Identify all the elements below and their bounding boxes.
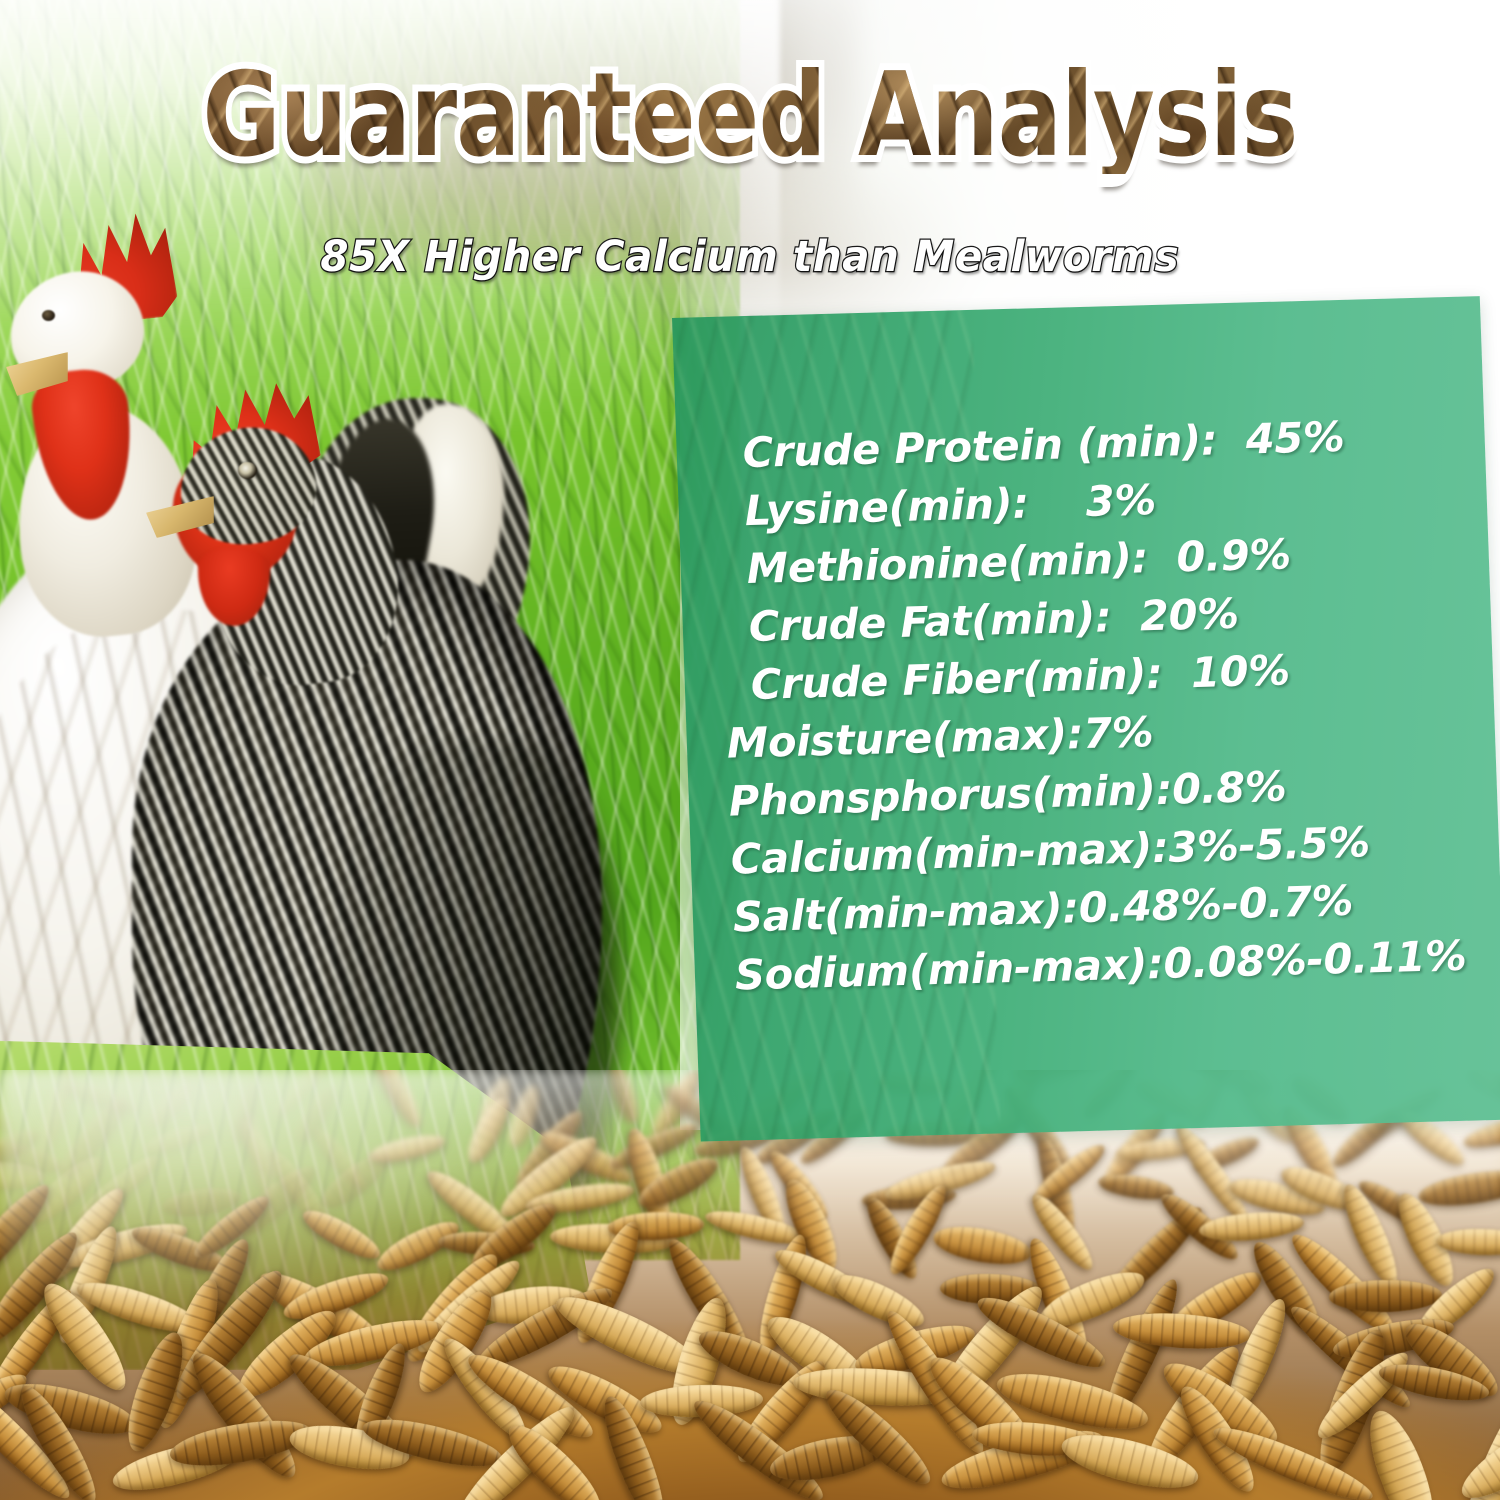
guaranteed-analysis-panel: Crude Protein (min): 45%Lysine(min): 3%M…: [672, 296, 1500, 1141]
subheadline: 85X Higher Calcium than Mealworms: [0, 232, 1500, 282]
headline: Guaranteed Analysis Guaranteed Analysis …: [0, 58, 1500, 178]
white-hen-eye: [42, 310, 55, 321]
nutrient-list: Crude Protein (min): 45%Lysine(min): 3%M…: [716, 405, 1476, 1005]
headline-layers: Guaranteed Analysis Guaranteed Analysis …: [0, 58, 1500, 178]
barred-hen-eye: [238, 462, 257, 479]
product-infographic: Guaranteed Analysis Guaranteed Analysis …: [0, 0, 1500, 1500]
subtitle-text: 85X Higher Calcium than Mealworms: [321, 232, 1180, 282]
page-title: Guaranteed Analysis: [135, 58, 1365, 174]
